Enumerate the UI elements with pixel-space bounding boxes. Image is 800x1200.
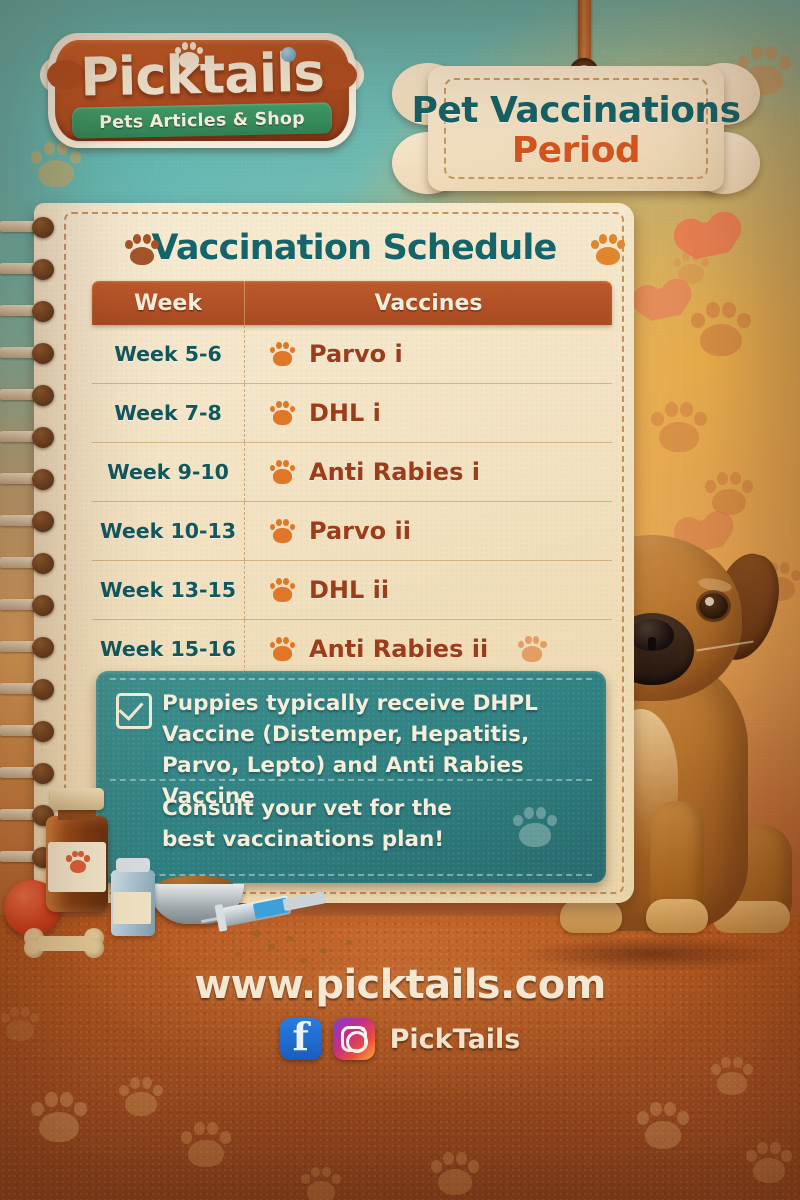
tag-title-line1: Pet Vaccinations xyxy=(392,90,760,131)
puppy-front-paw-right xyxy=(646,899,708,933)
cell-week: Week 9-10 xyxy=(92,443,245,501)
cell-week: Week 10-13 xyxy=(92,502,245,560)
schedule-card: Vaccination Schedule Week Vaccines Week … xyxy=(34,203,634,903)
table-row: Week 7-8DHL i xyxy=(92,384,612,443)
cell-week: Week 7-8 xyxy=(92,384,245,442)
cell-vaccine: Parvo ii xyxy=(245,517,612,545)
cell-week: Week 5-6 xyxy=(92,325,245,383)
table-row: Week 10-13Parvo ii xyxy=(92,502,612,561)
binding-ring xyxy=(0,553,60,574)
vial-label xyxy=(113,892,151,924)
paw-icon xyxy=(636,1100,690,1151)
cell-vaccine-label: DHL i xyxy=(309,399,381,427)
table-header-row: Week Vaccines xyxy=(92,281,612,325)
paw-icon xyxy=(269,341,296,367)
bottle-cap xyxy=(50,788,104,810)
facebook-icon[interactable] xyxy=(280,1018,322,1060)
table-row: Week 5-6Parvo i xyxy=(92,325,612,384)
binding-ring xyxy=(0,679,60,700)
kibble-crumb xyxy=(268,944,275,950)
paw-icon xyxy=(30,1090,88,1145)
social-links: PickTails xyxy=(0,1018,800,1060)
poster: Picktails Pets Articles & Shop Pet Vacci… xyxy=(0,0,800,1200)
cell-vaccine: DHL i xyxy=(245,399,612,427)
paw-icon xyxy=(269,459,296,485)
paw-icon xyxy=(180,1120,232,1169)
binding-ring xyxy=(0,427,60,448)
binding-ring xyxy=(0,511,60,532)
info-note-box: Puppies typically receive DHPL Vaccine (… xyxy=(96,671,606,883)
paw-icon xyxy=(269,636,296,662)
table-row: Week 13-15DHL ii xyxy=(92,561,612,620)
paw-icon xyxy=(269,577,296,603)
checkbox-checked-icon xyxy=(116,693,152,729)
binding-ring xyxy=(0,595,60,616)
binding-ring xyxy=(0,217,60,238)
instagram-lens xyxy=(346,1031,368,1053)
note-divider-top xyxy=(110,678,592,680)
puppy-front-paw-left xyxy=(560,899,622,933)
paw-icon xyxy=(118,1075,164,1119)
paw-icon xyxy=(124,233,160,267)
syringe-plunger xyxy=(282,891,326,911)
paw-icon xyxy=(710,1055,754,1097)
paw-icon xyxy=(590,233,626,267)
binding-ring xyxy=(0,301,60,322)
binding-ring xyxy=(0,637,60,658)
bone-biscuit xyxy=(22,928,106,958)
kibble-crumb xyxy=(236,952,242,957)
paw-icon xyxy=(650,400,708,455)
cell-vaccine: Anti Rabies ii xyxy=(245,635,612,663)
paw-icon xyxy=(66,850,90,874)
binding-ring xyxy=(0,385,60,406)
table-header-vaccines: Vaccines xyxy=(245,281,612,325)
tag-title-line2: Period xyxy=(392,130,760,171)
binding-ring xyxy=(0,343,60,364)
binding-ring xyxy=(0,469,60,490)
cell-vaccine-label: Anti Rabies i xyxy=(309,458,480,486)
dot-icon xyxy=(281,47,296,62)
binding-ring xyxy=(0,259,60,280)
social-handle: PickTails xyxy=(390,1024,521,1055)
paw-icon xyxy=(517,635,547,663)
puppy-eye-right xyxy=(699,593,728,619)
heart-icon xyxy=(689,219,729,259)
paw-icon xyxy=(690,300,752,359)
puppy-nose xyxy=(630,619,674,651)
table-row: Week 9-10Anti Rabies i xyxy=(92,443,612,502)
cell-vaccine: Parvo i xyxy=(245,340,612,368)
heart-icon xyxy=(645,285,681,321)
cell-vaccine-label: DHL ii xyxy=(309,576,389,604)
schedule-table: Week Vaccines Week 5-6Parvo iWeek 7-8DHL… xyxy=(92,281,612,678)
table-body: Week 5-6Parvo iWeek 7-8DHL iWeek 9-10Ant… xyxy=(92,325,612,678)
biscuit-body xyxy=(38,936,92,951)
cell-week: Week 15-16 xyxy=(92,620,245,678)
cell-vaccine: DHL ii xyxy=(245,576,612,604)
instagram-dot xyxy=(361,1027,365,1031)
page-title: Vaccination Schedule xyxy=(94,228,614,268)
kibble-crumb xyxy=(346,940,352,945)
binding-ring xyxy=(0,763,60,784)
bottle-label xyxy=(48,842,106,892)
cell-vaccine-label: Anti Rabies ii xyxy=(309,635,488,663)
website-url[interactable]: www.picktails.com xyxy=(0,962,800,1008)
table-header-week-label: Week xyxy=(134,291,202,316)
paw-icon xyxy=(300,1165,342,1200)
brand-logo[interactable]: Picktails Pets Articles & Shop xyxy=(48,33,356,148)
vaccine-vial xyxy=(110,858,156,938)
cell-week: Week 13-15 xyxy=(92,561,245,619)
kibble-crumb xyxy=(320,948,327,954)
cell-vaccine-label: Parvo ii xyxy=(309,517,411,545)
logo-tagline: Pets Articles & Shop xyxy=(99,108,305,132)
logo-tagline-banner: Pets Articles & Shop xyxy=(72,102,333,138)
cell-vaccine-label: Parvo i xyxy=(309,340,403,368)
kibble-crumb xyxy=(252,930,261,937)
table-header-vaccines-label: Vaccines xyxy=(375,291,483,316)
paw-icon xyxy=(512,805,558,849)
cell-vaccine: Anti Rabies i xyxy=(245,458,612,486)
vaccine-bottle xyxy=(44,788,110,914)
note-paragraph-2: Consult your vet for the best vaccinatio… xyxy=(162,793,506,855)
bone-tag: Pet Vaccinations Period xyxy=(392,66,760,191)
paw-icon xyxy=(174,41,204,69)
paw-icon xyxy=(269,400,296,426)
vial-cap xyxy=(116,858,150,872)
paw-icon xyxy=(430,1150,480,1198)
table-header-week: Week xyxy=(92,281,245,325)
paw-icon xyxy=(745,1140,793,1186)
hanging-cord-icon xyxy=(578,0,591,66)
table-row: Week 15-16Anti Rabies ii xyxy=(92,620,612,678)
instagram-icon[interactable] xyxy=(333,1018,375,1060)
paw-icon xyxy=(269,518,296,544)
binding-ring xyxy=(0,721,60,742)
